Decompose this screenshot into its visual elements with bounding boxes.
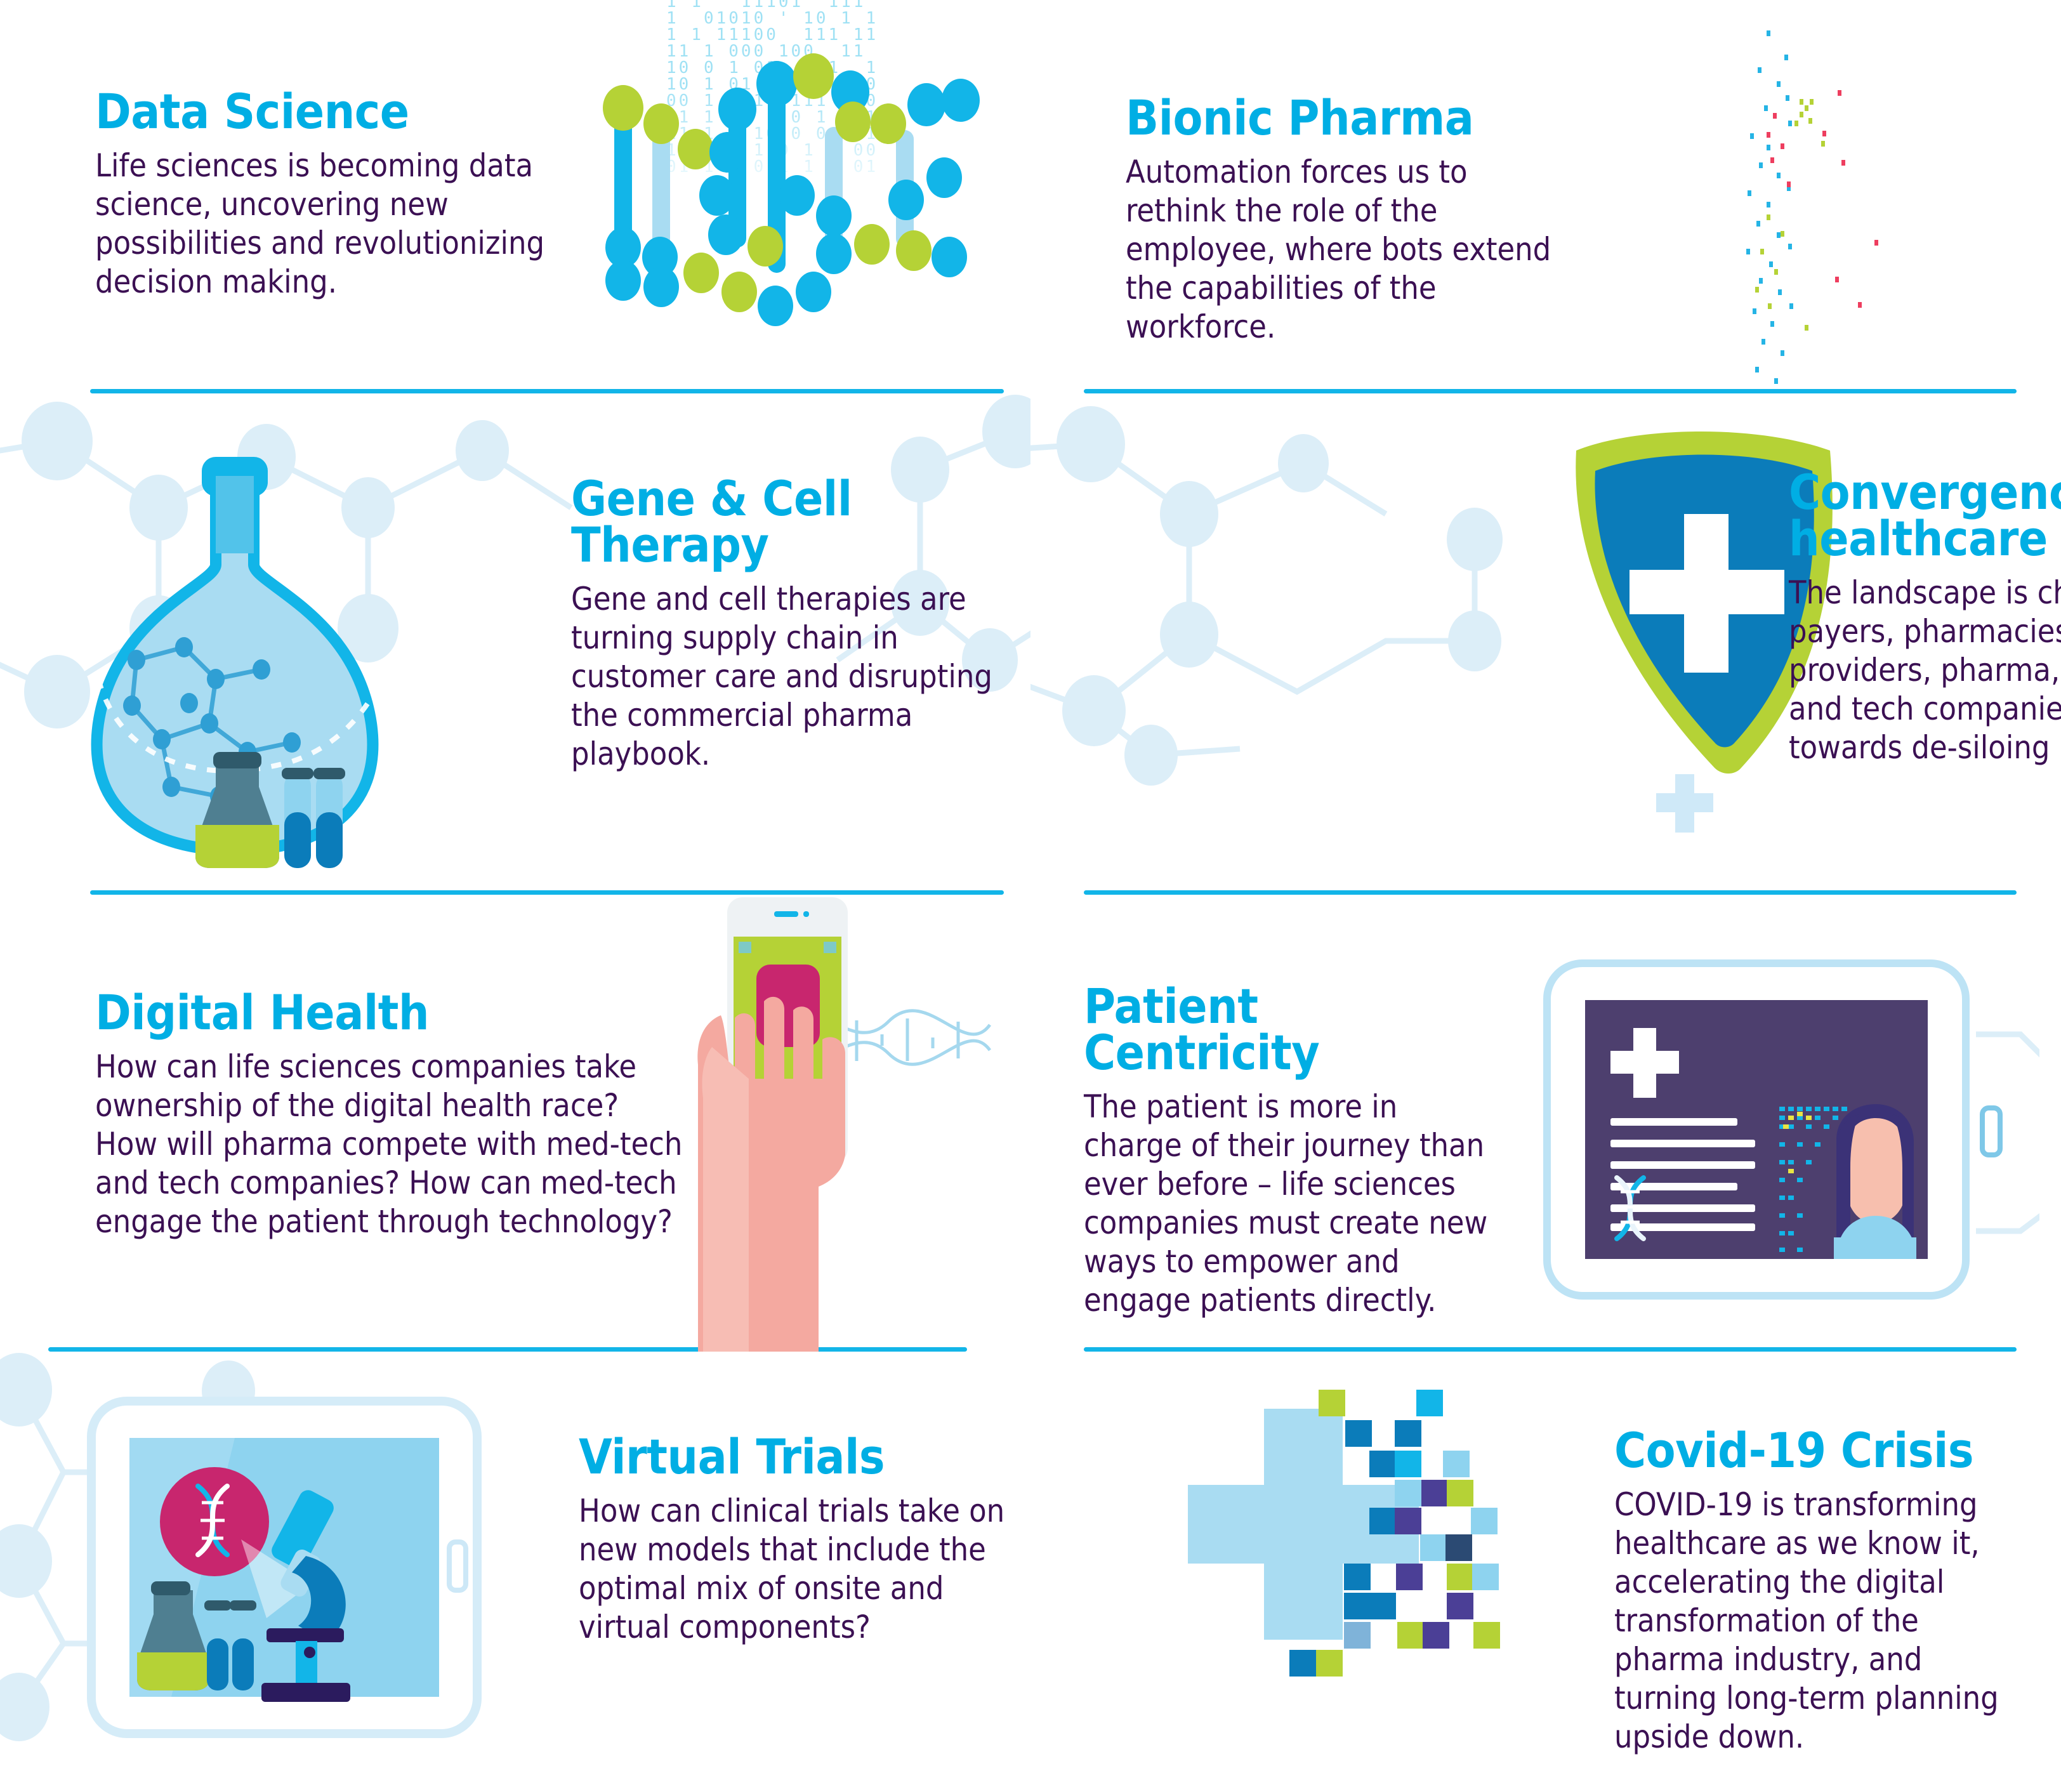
panel-patient-centricity: Patient Centricity The patient is more i… xyxy=(1030,895,2061,1352)
dna-binary-icon: 1 1 11101 111 1 111 1 01010 ' 10 1 1 010… xyxy=(571,0,1015,374)
bionic-pharma-text-block: Bionic Pharma Automation forces us to re… xyxy=(1126,95,1570,346)
convergence-text-block: Convergence of healthcare The landscape … xyxy=(1789,470,2061,767)
panel-body: Gene and cell therapies are turning supp… xyxy=(571,580,1003,774)
panel-body: The landscape is changing as payers, pha… xyxy=(1789,574,2061,767)
panel-title: Bionic Pharma xyxy=(1126,95,1570,142)
panel-virtual-trials: Virtual Trials How can clinical trials t… xyxy=(0,1352,1030,1792)
section-divider xyxy=(90,389,1004,393)
panel-body: Automation forces us to rethink the role… xyxy=(1126,153,1570,346)
panel-title: Covid-19 Crisis xyxy=(1614,1428,2033,1474)
section-divider xyxy=(90,890,1004,895)
panel-title: Convergence of healthcare xyxy=(1789,470,2061,562)
panel-body: COVID-19 is transforming healthcare as w… xyxy=(1614,1486,2033,1756)
hand-holding-smartphone-icon xyxy=(673,895,1003,1352)
panel-covid-19-crisis: Covid-19 Crisis COVID-19 is transforming… xyxy=(1030,1352,2061,1792)
pixelated-head-profile-icon xyxy=(1576,0,2058,393)
panel-title: Patient Centricity xyxy=(1084,984,1503,1076)
covid-crisis-text-block: Covid-19 Crisis COVID-19 is transforming… xyxy=(1614,1428,2033,1756)
laboratory-flask-icon xyxy=(25,406,508,869)
section-divider xyxy=(1084,1347,2017,1352)
digital-health-text-block: Digital Health How can life sciences com… xyxy=(95,990,685,1241)
panel-digital-health: Digital Health How can life sciences com… xyxy=(0,895,1030,1352)
data-science-text-block: Data Science Life sciences is becoming d… xyxy=(95,89,558,301)
patient-centricity-text-block: Patient Centricity The patient is more i… xyxy=(1084,984,1503,1320)
pixelated-medical-cross-icon xyxy=(1170,1383,1525,1739)
panel-title: Virtual Trials xyxy=(579,1434,1010,1480)
section-divider xyxy=(1084,890,2017,895)
panel-gene-cell-therapy: Gene & Cell Therapy Gene and cell therap… xyxy=(0,393,1030,895)
tablet-patient-record-icon xyxy=(1538,958,2039,1301)
panel-data-science: 1 1 11101 111 1 111 1 01010 ' 10 1 1 010… xyxy=(0,0,1030,393)
panel-body: How can life sciences companies take own… xyxy=(95,1048,685,1241)
panel-body: How can clinical trials take on new mode… xyxy=(579,1492,1010,1647)
panel-body: The patient is more in charge of their j… xyxy=(1084,1088,1503,1320)
virtual-trials-text-block: Virtual Trials How can clinical trials t… xyxy=(579,1434,1010,1647)
gene-cell-text-block: Gene & Cell Therapy Gene and cell therap… xyxy=(571,476,1003,774)
infographic-grid: 1 1 11101 111 1 111 1 01010 ' 10 1 1 010… xyxy=(0,0,2061,1792)
tablet-microscope-icon xyxy=(82,1396,501,1751)
panel-title: Data Science xyxy=(95,89,558,135)
panel-title: Gene & Cell Therapy xyxy=(571,476,1003,569)
panel-bionic-pharma: Bionic Pharma Automation forces us to re… xyxy=(1030,0,2061,393)
panel-title: Digital Health xyxy=(95,990,685,1036)
panel-convergence-of-healthcare: Convergence of healthcare The landscape … xyxy=(1030,393,2061,895)
panel-body: Life sciences is becoming data science, … xyxy=(95,147,558,301)
